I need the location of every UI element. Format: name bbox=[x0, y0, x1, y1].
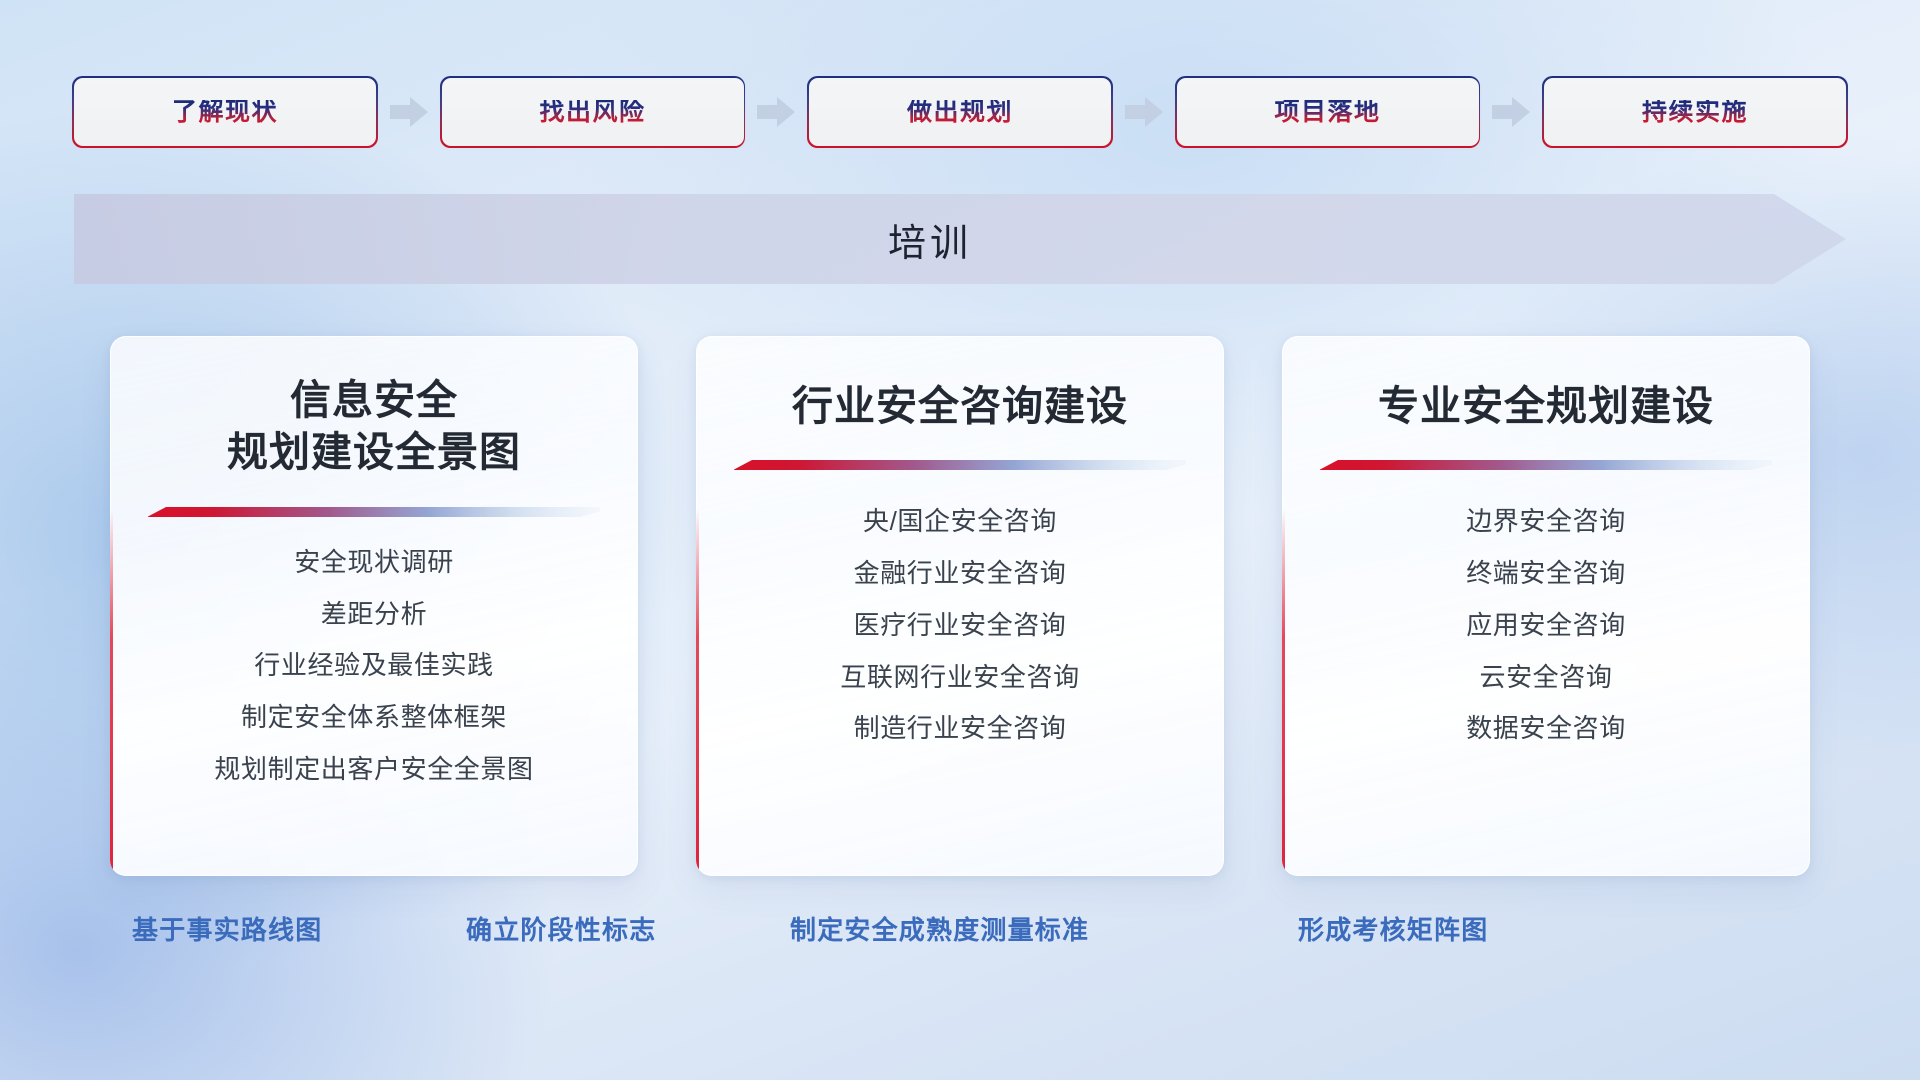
card-list-item: 云安全咨询 bbox=[1479, 655, 1612, 700]
card-row: 信息安全 规划建设全景图 安全现状调研 差 bbox=[110, 336, 1810, 876]
card-title-line: 信息安全 bbox=[227, 374, 521, 426]
process-step-row: 了解现状 找出风险 做出规划 项目落地 持续实施 bbox=[74, 78, 1846, 146]
card-list-item: 央/国企安全咨询 bbox=[863, 499, 1057, 544]
card-list-item: 行业经验及最佳实践 bbox=[254, 643, 493, 688]
card-list-item: 边界安全咨询 bbox=[1466, 499, 1626, 544]
process-step-label: 项目落地 bbox=[1274, 100, 1380, 125]
training-banner-title: 培训 bbox=[74, 194, 1786, 284]
card-title: 信息安全 规划建设全景图 bbox=[227, 374, 521, 479]
card-list-item: 规划制定出客户安全全景图 bbox=[214, 747, 533, 792]
process-step-label: 了解现状 bbox=[172, 100, 278, 125]
card-list-item: 终端安全咨询 bbox=[1466, 551, 1626, 596]
footnote-label: 确立阶段性标志 bbox=[466, 910, 656, 947]
process-step-2[interactable]: 做出规划 bbox=[809, 78, 1111, 146]
card-information-security-panorama[interactable]: 信息安全 规划建设全景图 安全现状调研 差 bbox=[110, 336, 638, 876]
arrow-right-icon bbox=[390, 95, 428, 129]
card-list-item: 金融行业安全咨询 bbox=[854, 551, 1067, 596]
card-list-item: 互联网行业安全咨询 bbox=[840, 655, 1079, 700]
card-title-line: 行业安全咨询建设 bbox=[792, 380, 1128, 432]
arrow-right-icon bbox=[1492, 95, 1530, 129]
card-list-item: 安全现状调研 bbox=[294, 540, 454, 585]
card-professional-security-planning[interactable]: 专业安全规划建设 边界安全咨询 终端安全咨询 bbox=[1282, 336, 1810, 876]
footnote-label: 形成考核矩阵图 bbox=[1298, 910, 1488, 947]
arrow-right-icon bbox=[1125, 95, 1163, 129]
footnote-label: 基于事实路线图 bbox=[132, 910, 322, 947]
card-list-item: 数据安全咨询 bbox=[1466, 706, 1626, 751]
card-list-item: 医疗行业安全咨询 bbox=[854, 603, 1067, 648]
card-list-item: 制造行业安全咨询 bbox=[854, 706, 1067, 751]
card-item-list: 安全现状调研 差距分析 行业经验及最佳实践 制定安全体系整体框架 规划制定出客户… bbox=[136, 540, 612, 792]
card-divider-icon bbox=[148, 505, 600, 518]
training-banner: 培训 bbox=[74, 194, 1846, 284]
card-title: 专业安全规划建设 bbox=[1378, 380, 1714, 432]
card-item-list: 边界安全咨询 终端安全咨询 应用安全咨询 云安全咨询 数据安全咨询 bbox=[1308, 499, 1784, 751]
process-step-1[interactable]: 找出风险 bbox=[442, 78, 744, 146]
process-step-label: 找出风险 bbox=[539, 100, 645, 125]
card-divider-icon bbox=[734, 458, 1186, 471]
card-title-line: 专业安全规划建设 bbox=[1378, 380, 1714, 432]
card-title: 行业安全咨询建设 bbox=[792, 380, 1128, 432]
process-step-label: 做出规划 bbox=[907, 100, 1013, 125]
card-divider-icon bbox=[1320, 458, 1772, 471]
arrow-right-icon bbox=[757, 95, 795, 129]
footnote-row: 基于事实路线图 确立阶段性标志 制定安全成熟度测量标准 形成考核矩阵图 bbox=[0, 910, 1920, 960]
footnote-label: 制定安全成熟度测量标准 bbox=[790, 910, 1089, 947]
card-list-item: 差距分析 bbox=[321, 592, 427, 637]
process-step-label: 持续实施 bbox=[1642, 100, 1748, 125]
card-item-list: 央/国企安全咨询 金融行业安全咨询 医疗行业安全咨询 互联网行业安全咨询 制造行… bbox=[722, 499, 1198, 751]
process-step-0[interactable]: 了解现状 bbox=[74, 78, 376, 146]
card-list-item: 制定安全体系整体框架 bbox=[241, 695, 507, 740]
process-step-4[interactable]: 持续实施 bbox=[1544, 78, 1846, 146]
card-title-line: 规划建设全景图 bbox=[227, 426, 521, 478]
card-industry-security-consulting[interactable]: 行业安全咨询建设 央/国企安全咨询 金融行业安全咨询 bbox=[696, 336, 1224, 876]
card-list-item: 应用安全咨询 bbox=[1466, 603, 1626, 648]
process-step-3[interactable]: 项目落地 bbox=[1177, 78, 1479, 146]
